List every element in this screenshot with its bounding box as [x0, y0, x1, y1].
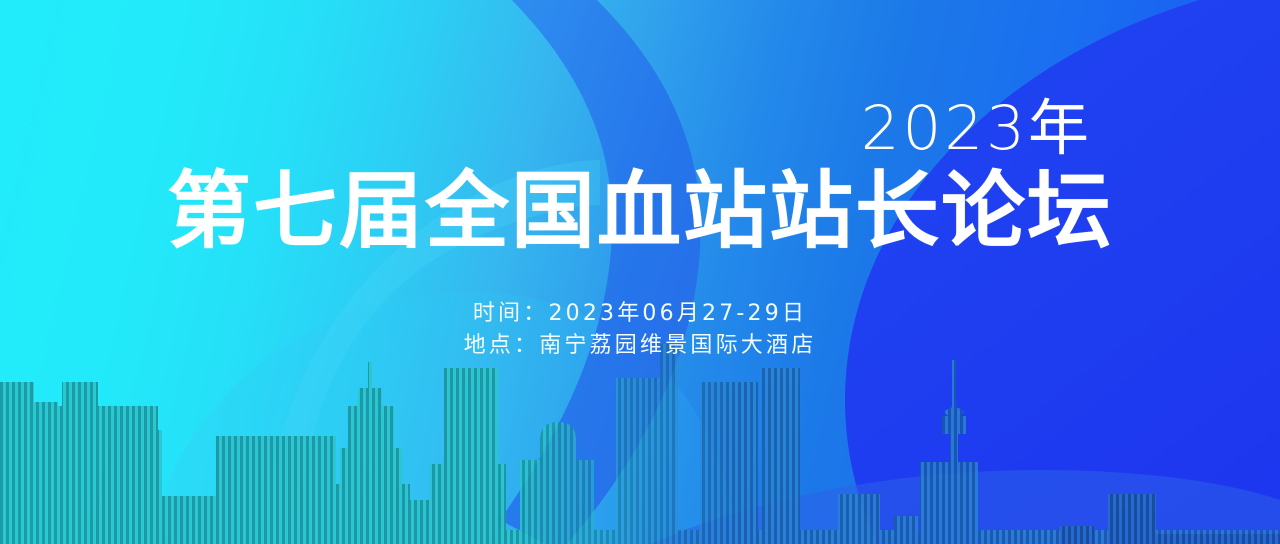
- background-decoration-layer: [0, 0, 1280, 544]
- corner-ellipse-icon: [845, 0, 1280, 544]
- conference-banner: 2023年 第七届全国血站站长论坛 时间：2023年06月27-29日 地点：南…: [0, 0, 1280, 544]
- bottom-sweep-shape: [650, 470, 1280, 544]
